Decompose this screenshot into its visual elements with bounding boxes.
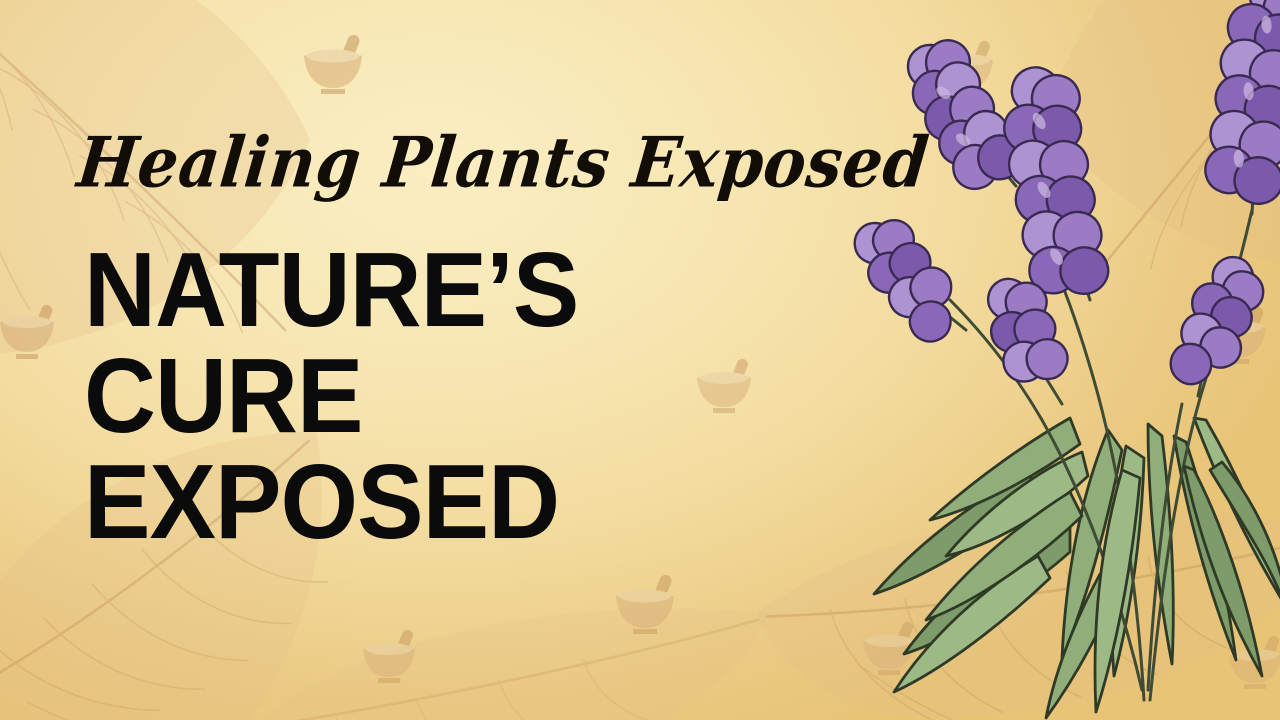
headline-line-2: CURE	[84, 346, 578, 448]
headline-line-3: EXPOSED	[84, 452, 578, 554]
title-card-canvas: Healing Plants Exposed NATURE’S CURE EXP…	[0, 0, 1280, 720]
mortar-and-pestle-icon	[690, 352, 760, 420]
lavender-plant-illustration	[770, 0, 1280, 720]
page-title: NATURE’S CURE EXPOSED	[84, 240, 578, 553]
title-text-block: Healing Plants Exposed NATURE’S CURE EXP…	[0, 0, 700, 720]
overline-script-title: Healing Plants Exposed	[74, 128, 931, 197]
headline-line-1: NATURE’S	[84, 240, 578, 342]
